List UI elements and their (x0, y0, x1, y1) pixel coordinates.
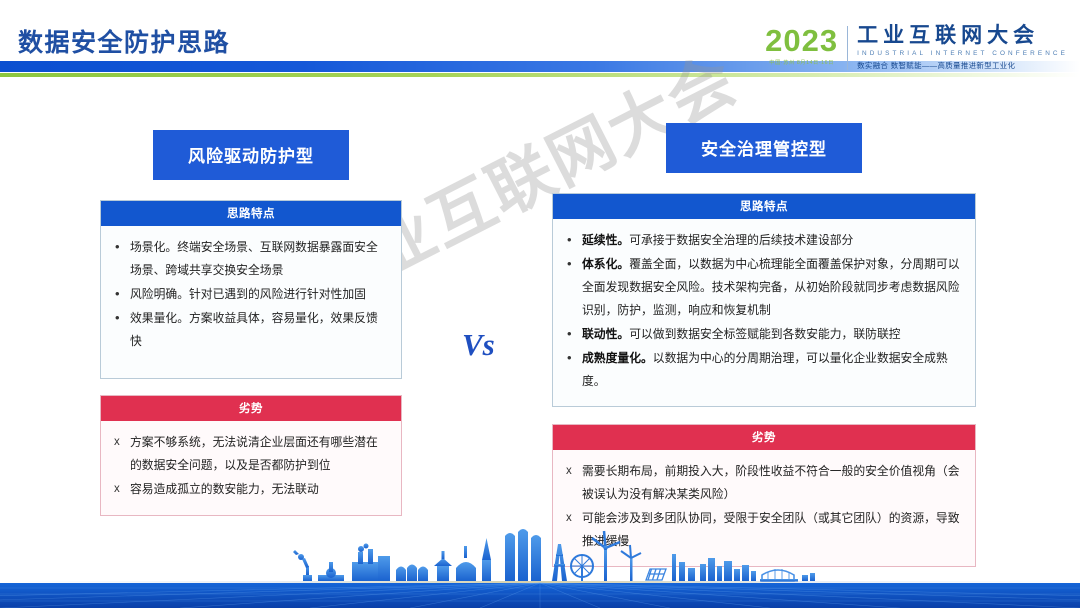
left-features-header: 思路特点 (101, 201, 401, 226)
page-title: 数据安全防护思路 (18, 23, 230, 59)
list-item: 场景化。终端安全场景、互联网数据暴露面安全场景、跨域共享交换安全场景 (111, 236, 389, 282)
right-weakness-panel: 劣势 需要长期布局，前期投入大，阶段性收益不符合一般的安全价值视角（会被误认为没… (552, 424, 976, 567)
list-item: 延续性。可承接于数据安全治理的后续技术建设部分 (563, 229, 963, 252)
list-item: 可能会涉及到多团队协同，受限于安全团队（或其它团队）的资源，导致推进缓慢 (563, 507, 963, 553)
horizon-line (0, 581, 1080, 583)
left-features-list: 场景化。终端安全场景、互联网数据暴露面安全场景、跨域共享交换安全场景 风险明确。… (111, 236, 389, 353)
logo-name-cn: 工业互联网大会 (857, 24, 1068, 48)
logo-name-block: 工业互联网大会 INDUSTRIAL INTERNET CONFERENCE 数… (848, 24, 1068, 71)
vs-label: Vs (462, 327, 495, 363)
list-item-lead: 成熟度量化。 (582, 351, 653, 365)
right-features-body: 延续性。可承接于数据安全治理的后续技术建设部分 体系化。覆盖全面，以数据为中心梳… (553, 219, 975, 406)
logo-tagline: 数实融合 数智赋能——高质量推进新型工业化 (857, 60, 1068, 71)
left-features-panel: 思路特点 场景化。终端安全场景、互联网数据暴露面安全场景、跨域共享交换安全场景 … (100, 200, 402, 379)
logo-year: 2023 (765, 24, 838, 57)
list-item: 方案不够系统，无法说清企业层面还有哪些潜在的数据安全问题，以及是否都防护到位 (111, 431, 389, 477)
left-column-badge: 风险驱动防护型 (153, 130, 349, 180)
list-item: 效果量化。方案收益具体，容易量化，效果反馈快 (111, 307, 389, 353)
left-weakness-header: 劣势 (101, 396, 401, 421)
grid-lines (0, 583, 1080, 608)
logo-name-en: INDUSTRIAL INTERNET CONFERENCE (857, 50, 1068, 57)
logo-date-location: 中国·苏州 8月14日-16日 (769, 59, 834, 66)
left-weakness-body: 方案不够系统，无法说清企业层面还有哪些潜在的数据安全问题，以及是否都防护到位 容… (101, 421, 401, 515)
list-item-text: 可承接于数据安全治理的后续技术建设部分 (629, 233, 853, 247)
right-column-badge: 安全治理管控型 (666, 123, 862, 173)
header-accent-bar-green (0, 73, 1080, 77)
right-features-list: 延续性。可承接于数据安全治理的后续技术建设部分 体系化。覆盖全面，以数据为中心梳… (563, 229, 963, 393)
list-item-text: 覆盖全面，以数据为中心梳理能全面覆盖保护对象，分周期可以全面发现数据安全风险。技… (582, 257, 960, 317)
right-column: 安全治理管控型 思路特点 延续性。可承接于数据安全治理的后续技术建设部分 体系化… (552, 123, 976, 567)
left-weakness-panel: 劣势 方案不够系统，无法说清企业层面还有哪些潜在的数据安全问题，以及是否都防护到… (100, 395, 402, 516)
left-column: 风险驱动防护型 思路特点 场景化。终端安全场景、互联网数据暴露面安全场景、跨域共… (100, 130, 402, 516)
right-panel-spacer (552, 407, 976, 424)
list-item-lead: 联动性。 (582, 327, 629, 341)
right-weakness-list: 需要长期布局，前期投入大，阶段性收益不符合一般的安全价值视角（会被误认为没有解决… (563, 460, 963, 553)
list-item-lead: 体系化。 (582, 257, 629, 271)
left-panel-spacer (100, 379, 402, 395)
conference-logo: 2023 中国·苏州 8月14日-16日 工业互联网大会 INDUSTRIAL … (765, 24, 1068, 72)
list-item-lead: 延续性。 (582, 233, 629, 247)
list-item: 需要长期布局，前期投入大，阶段性收益不符合一般的安全价值视角（会被误认为没有解决… (563, 460, 963, 506)
list-item: 联动性。可以做到数据安全标签赋能到各数安能力，联防联控 (563, 323, 963, 346)
list-item-text: 可以做到数据安全标签赋能到各数安能力，联防联控 (629, 327, 900, 341)
list-item: 容易造成孤立的数安能力，无法联动 (111, 478, 389, 501)
list-item: 成熟度量化。以数据为中心的分周期治理，可以量化企业数据安全成熟度。 (563, 347, 963, 393)
left-weakness-list: 方案不够系统，无法说清企业层面还有哪些潜在的数据安全问题，以及是否都防护到位 容… (111, 431, 389, 501)
right-features-panel: 思路特点 延续性。可承接于数据安全治理的后续技术建设部分 体系化。覆盖全面，以数… (552, 193, 976, 407)
right-weakness-header: 劣势 (553, 425, 975, 450)
logo-year-block: 2023 中国·苏州 8月14日-16日 (765, 24, 847, 66)
list-item: 体系化。覆盖全面，以数据为中心梳理能全面覆盖保护对象，分周期可以全面发现数据安全… (563, 253, 963, 322)
slide-root: 数据安全防护思路 2023 中国·苏州 8月14日-16日 工业互联网大会 IN… (0, 0, 1080, 608)
right-weakness-body: 需要长期布局，前期投入大，阶段性收益不符合一般的安全价值视角（会被误认为没有解决… (553, 450, 975, 566)
left-features-body: 场景化。终端安全场景、互联网数据暴露面安全场景、跨域共享交换安全场景 风险明确。… (101, 226, 401, 378)
list-item: 风险明确。针对已遇到的风险进行针对性加固 (111, 283, 389, 306)
ground-plane (0, 583, 1080, 608)
right-features-header: 思路特点 (553, 194, 975, 219)
